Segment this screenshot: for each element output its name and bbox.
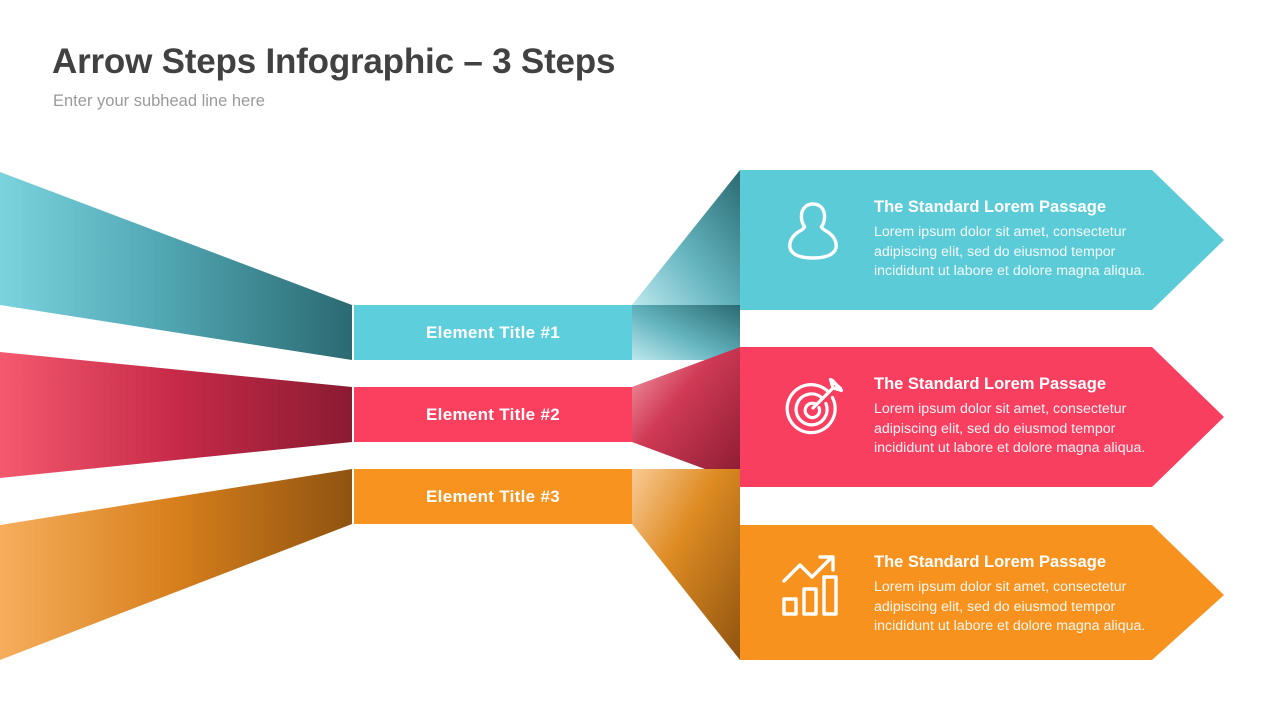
panel-content-step-1: The Standard Lorem Passage Lorem ipsum d… — [778, 196, 1166, 282]
ribbon-step-3 — [0, 469, 352, 660]
center-bar-label-text: Element Title #2 — [426, 405, 560, 425]
panel-text-step-2: The Standard Lorem Passage Lorem ipsum d… — [874, 373, 1166, 459]
panel-content-step-3: The Standard Lorem Passage Lorem ipsum d… — [778, 551, 1166, 637]
panel-content-step-2: The Standard Lorem Passage Lorem ipsum d… — [778, 373, 1166, 459]
panel-body: Lorem ipsum dolor sit amet, consectetur … — [874, 223, 1166, 282]
panel-heading: The Standard Lorem Passage — [874, 198, 1166, 217]
target-icon — [778, 373, 848, 443]
connector-step-3 — [632, 469, 740, 660]
center-bar-label-step-2[interactable]: Element Title #2 — [354, 387, 632, 442]
center-bar-label-step-3[interactable]: Element Title #3 — [354, 469, 632, 524]
panel-text-step-3: The Standard Lorem Passage Lorem ipsum d… — [874, 551, 1166, 637]
panel-text-step-1: The Standard Lorem Passage Lorem ipsum d… — [874, 196, 1166, 282]
panel-heading: The Standard Lorem Passage — [874, 375, 1166, 394]
center-bar-label-text: Element Title #3 — [426, 487, 560, 507]
person-icon — [778, 196, 848, 266]
panel-heading: The Standard Lorem Passage — [874, 553, 1166, 572]
connector-step-2 — [632, 347, 740, 482]
center-bar-label-step-1[interactable]: Element Title #1 — [354, 305, 632, 360]
slide-canvas: Arrow Steps Infographic – 3 Steps Enter … — [0, 0, 1280, 720]
panel-body: Lorem ipsum dolor sit amet, consectetur … — [874, 578, 1166, 637]
ribbon-step-2 — [0, 352, 352, 478]
center-bar-label-text: Element Title #1 — [426, 323, 560, 343]
growth-chart-icon — [778, 551, 848, 621]
connector-step-1 — [632, 170, 740, 360]
panel-body: Lorem ipsum dolor sit amet, consectetur … — [874, 400, 1166, 459]
ribbon-step-1 — [0, 172, 352, 360]
